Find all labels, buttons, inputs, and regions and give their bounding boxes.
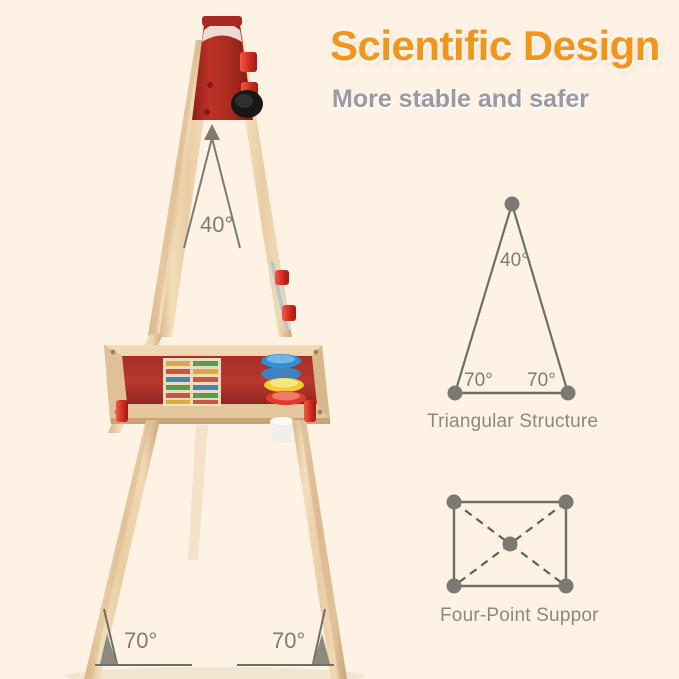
angle-annotation-overlay: 40° 70° 70° <box>0 0 679 679</box>
infographic-page: 40° 70° 70° 40° 70° 70° <box>0 0 679 679</box>
easel-right-foot-angle-label: 70° <box>272 628 305 653</box>
easel-left-foot-angle-label: 70° <box>124 628 157 653</box>
easel-apex-angle-label: 40° <box>200 212 233 237</box>
